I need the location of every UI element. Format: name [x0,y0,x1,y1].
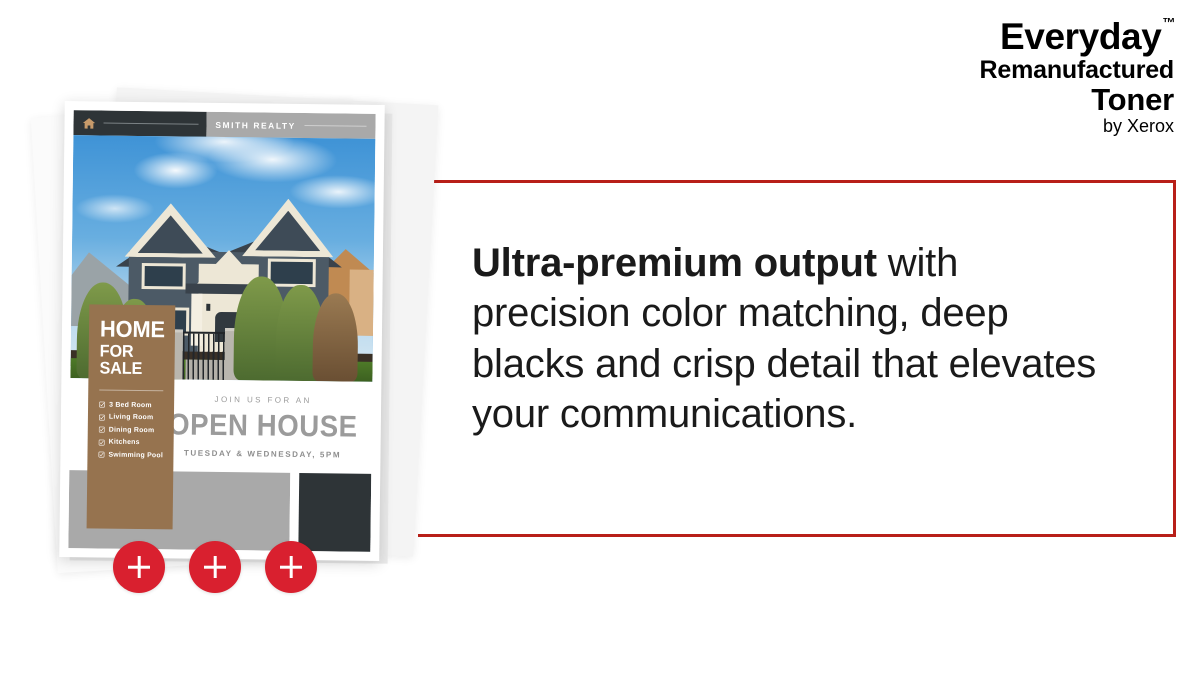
home-for-sale-badge: HOME FOR SALE 3 Bed Room Living Room [87,304,176,529]
check-box-icon [99,402,105,408]
printed-flyer[interactable]: SMITH REALTY [59,101,385,561]
check-box-icon [98,452,104,458]
home-icon [81,116,96,130]
iron-gate [182,332,225,381]
list-item: Swimming Pool [98,451,162,459]
footer-dark-bar [298,473,371,552]
check-box-icon [99,427,105,433]
realty-name: SMITH REALTY [215,119,296,130]
porch-lamp [207,304,211,311]
add-button-2[interactable] [189,541,241,593]
list-item: Living Room [99,414,163,422]
check-box-icon [99,414,105,420]
feature-label: 3 Bed Room [109,401,152,409]
add-button-1[interactable] [113,541,165,593]
copy-bold-lead: Ultra-premium output [472,241,877,285]
brand-line-remanufactured: Remanufactured [980,58,1174,83]
feature-label: Dining Room [109,426,155,434]
flyer-header-dark-block [73,110,206,137]
header-rule-left [104,123,199,125]
flyer-canvas: SMITH REALTY [68,110,375,552]
feature-label: Swimming Pool [108,451,163,459]
add-button-3[interactable] [265,541,317,593]
badge-divider [99,389,163,391]
marketing-copy: Ultra-premium output with precision colo… [472,238,1112,440]
brand-line-by-xerox: by Xerox [980,117,1174,135]
brand-line-everyday: Everyday™ [1000,18,1174,55]
brand-lockup: Everyday™ Remanufactured Toner by Xerox [980,18,1174,135]
check-box-icon [99,439,105,445]
feature-label: Kitchens [109,439,140,446]
event-headline: OPEN HOUSE [168,408,358,444]
badge-title-line2: FOR SALE [99,342,160,377]
window-upper-right [268,259,316,288]
window-upper-left [142,263,186,290]
feature-label: Living Room [109,414,154,422]
badge-title-line1: HOME [100,319,161,342]
flyer-stack: SMITH REALTY [0,0,470,682]
brand-everyday-text: Everyday [1000,16,1161,57]
brand-line-toner: Toner [980,84,1174,115]
list-item: 3 Bed Room [99,401,163,409]
promo-banner: Everyday™ Remanufactured Toner by Xerox … [0,0,1200,682]
add-buttons-row [113,541,317,593]
event-eyebrow: JOIN US FOR AN [215,394,312,404]
event-schedule: TUESDAY & WEDNESDAY, 5PM [184,448,341,459]
trademark-symbol: ™ [1162,15,1175,30]
flyer-header-grey-block: SMITH REALTY [206,112,375,139]
feature-list: 3 Bed Room Living Room Dining Room [98,401,163,459]
flyer-header-bar: SMITH REALTY [73,110,375,139]
list-item: Kitchens [99,439,163,447]
header-rule-right [305,125,367,127]
list-item: Dining Room [99,426,163,434]
